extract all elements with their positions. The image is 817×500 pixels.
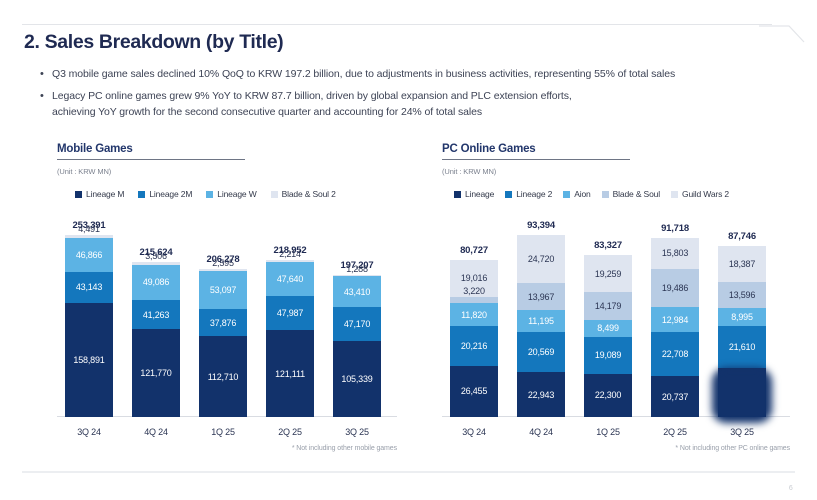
bar-segment-value: 20,569 (528, 347, 554, 357)
bar-segment-value: 47,640 (277, 274, 303, 284)
bar-segment[interactable]: 21,610 (718, 326, 766, 368)
bullet-text-line2: achieving YoY growth for the second cons… (52, 104, 572, 120)
bar-segment[interactable]: 47,170 (333, 307, 381, 341)
page-title: 2. Sales Breakdown (by Title) (24, 31, 283, 54)
bar-segment[interactable]: 22,708 (651, 332, 699, 376)
legend-item-lineage-2m[interactable]: Lineage 2M (138, 189, 192, 199)
bar-segment[interactable]: 11,820 (450, 303, 498, 326)
x-axis-label: 2Q 25 (278, 427, 302, 437)
bar-segment-value: 11,820 (461, 310, 487, 320)
bar-segment-value: 121,770 (140, 368, 171, 378)
bar-segment[interactable]: 46,866 (65, 238, 113, 272)
x-axis-label: 3Q 25 (730, 427, 754, 437)
bar-segment[interactable]: 13,967 (517, 283, 565, 310)
bar-group[interactable]: 218,9522,21447,64047,987121,111 (266, 226, 314, 417)
bar-segment[interactable]: 121,770 (132, 329, 180, 417)
bar-segment-value: 12,984 (662, 315, 688, 325)
legend-mobile: Lineage MLineage 2MLineage WBlade & Soul… (75, 189, 397, 199)
bar-segment[interactable]: 15,803 (651, 238, 699, 269)
bar-segment[interactable]: 20,569 (517, 332, 565, 372)
bar-segment-value: 8,995 (731, 312, 753, 322)
bar-segment[interactable]: 22,300 (584, 374, 632, 417)
x-axis-label: 3Q 24 (77, 427, 101, 437)
stacked-bar[interactable]: 1,28843,41047,170105,339 (333, 275, 381, 417)
x-axis-label: 4Q 24 (529, 427, 553, 437)
bullet-marker: • (40, 88, 52, 104)
bar-total-label: 218,952 (274, 245, 307, 256)
stacked-bar[interactable]: 18,38713,5968,99521,610 (718, 246, 766, 417)
stacked-bar[interactable]: 19,25914,1798,49919,08922,300 (584, 255, 632, 417)
bar-total-label: 80,727 (460, 245, 488, 256)
bar-segment[interactable]: 11,195 (517, 310, 565, 332)
bar-total-label: 83,327 (594, 240, 622, 251)
bar-segment-value: 41,263 (143, 310, 169, 320)
bar-segment[interactable]: 112,710 (199, 336, 247, 417)
bar-segment-value: 112,710 (208, 372, 238, 382)
legend-swatch-icon (271, 191, 278, 198)
x-axis-label: 1Q 25 (596, 427, 620, 437)
legend-item-lineage[interactable]: Lineage (454, 189, 494, 199)
bullet-text: Legacy PC online games grew 9% YoY to KR… (52, 90, 572, 102)
legend-swatch-icon (563, 191, 570, 198)
slide: 2. Sales Breakdown (by Title) • Q3 mobil… (0, 0, 817, 500)
bar-segment[interactable]: 53,097 (199, 271, 247, 309)
bar-segment-value: 46,866 (76, 250, 102, 260)
bar-group[interactable]: 253,3914,49146,86643,143158,891 (65, 201, 113, 417)
bar-segment[interactable]: 8,995 (718, 308, 766, 326)
footer-divider (22, 471, 795, 473)
bar-segment-value: 105,339 (341, 374, 372, 384)
bar-segment-value: 26,455 (461, 386, 487, 396)
bar-total-label: 87,746 (728, 231, 756, 242)
bar-total-label: 253,391 (73, 220, 106, 231)
chart-mobile: * Not including other mobile games 253,3… (57, 211, 397, 439)
bar-segment[interactable]: 18,387 (718, 246, 766, 282)
bar-segment-value: 53,097 (210, 285, 236, 295)
bar-segment[interactable]: 37,876 (199, 309, 247, 336)
chart-pc: * Not including other PC online games 80… (442, 211, 790, 439)
corner-decoration (759, 22, 805, 52)
bar-group[interactable]: 206,2782,59553,09737,876112,710 (199, 235, 247, 417)
bar-segment-value: 14,179 (595, 301, 621, 311)
bar-segment-value: 47,170 (344, 319, 370, 329)
bar-segment[interactable]: 47,640 (266, 262, 314, 296)
legend-label: Lineage W (217, 189, 256, 199)
legend-item-lineage-m[interactable]: Lineage M (75, 189, 124, 199)
bar-segment[interactable]: 43,143 (65, 272, 113, 303)
bar-segment[interactable]: 43,410 (333, 276, 381, 307)
legend-item-blade-soul[interactable]: Blade & Soul (602, 189, 660, 199)
stacked-bar[interactable]: 24,72013,96711,19520,56922,943 (517, 235, 565, 417)
bar-segment[interactable]: 19,259 (584, 255, 632, 292)
bar-group[interactable]: 87,74618,38713,5968,99521,610 (718, 212, 766, 417)
bar-segment[interactable]: 26,455 (450, 366, 498, 417)
legend-swatch-icon (454, 191, 461, 198)
x-axis-label: 3Q 25 (345, 427, 369, 437)
list-item: • Q3 mobile game sales declined 10% QoQ … (40, 66, 800, 82)
bar-segment-value: 43,143 (76, 282, 102, 292)
list-item: • Legacy PC online games grew 9% YoY to … (40, 88, 800, 120)
bar-segment[interactable]: 19,089 (584, 337, 632, 374)
bar-segment-value: 11,195 (528, 316, 554, 326)
bar-group[interactable]: 80,72719,0163,22011,82020,21626,455 (450, 226, 498, 417)
bar-group[interactable]: 91,71815,80319,48612,98422,70820,737 (651, 204, 699, 417)
panel-title: PC Online Games (442, 143, 790, 159)
bar-segment[interactable]: 20,216 (450, 326, 498, 365)
bar-segment-value: 37,876 (210, 318, 236, 328)
bar-segment-value: 43,410 (344, 287, 370, 297)
bar-group[interactable]: 83,32719,25914,1798,49919,08922,300 (584, 221, 632, 417)
panel-mobile-games: Mobile Games (Unit : KRW MN) Lineage MLi… (57, 143, 397, 439)
legend-label: Lineage M (86, 189, 124, 199)
stacked-bar[interactable]: 2,21447,64047,987121,111 (266, 260, 314, 417)
legend-item-blade-soul-2[interactable]: Blade & Soul 2 (271, 189, 336, 199)
legend-swatch-icon (206, 191, 213, 198)
x-axis-label: 1Q 25 (211, 427, 235, 437)
bar-total-label: 93,394 (527, 220, 555, 231)
bar-segment-value: 13,967 (528, 292, 554, 302)
bar-segment[interactable]: 121,111 (266, 330, 314, 417)
bar-segment-obscured (712, 368, 772, 423)
stacked-bar[interactable]: 3,50649,08641,263121,770 (132, 262, 180, 417)
bar-segment-value: 19,089 (595, 350, 621, 360)
stacked-bar[interactable]: 2,59553,09737,876112,710 (199, 269, 247, 417)
panel-title: Mobile Games (57, 143, 397, 159)
bar-segment-value: 121,111 (275, 369, 305, 379)
bar-segment-value: 22,943 (528, 390, 554, 400)
chart-footnote: * Not including other mobile games (292, 445, 397, 452)
legend-label: Lineage 2 (516, 189, 552, 199)
legend-label: Blade & Soul (613, 189, 660, 199)
bar-segment-value: 24,720 (528, 254, 554, 264)
bar-segment[interactable]: 41,263 (132, 300, 180, 330)
bar-segment-value: 19,016 (461, 273, 487, 283)
bar-segment[interactable]: 12,984 (651, 307, 699, 332)
bullet-marker: • (40, 66, 52, 82)
legend-swatch-icon (138, 191, 145, 198)
legend-item-lineage-w[interactable]: Lineage W (206, 189, 256, 199)
bar-segment[interactable]: 49,086 (132, 265, 180, 300)
stacked-bar[interactable]: 15,80319,48612,98422,70820,737 (651, 238, 699, 417)
bar-segment[interactable]: 47,987 (266, 296, 314, 330)
bar-segment-value: 49,086 (143, 277, 169, 287)
bar-segment-value: 15,803 (662, 248, 688, 258)
bar-segment[interactable]: 13,596 (718, 282, 766, 308)
stacked-bar[interactable]: 4,49146,86643,143158,891 (65, 235, 113, 417)
bar-segment-value: 22,300 (595, 390, 621, 400)
legend-label: Guild Wars 2 (682, 189, 729, 199)
bar-group[interactable]: 197,2071,28843,41047,170105,339 (333, 241, 381, 417)
legend-swatch-icon (602, 191, 609, 198)
legend-label: Lineage 2M (149, 189, 192, 199)
bar-segment-value: 19,259 (595, 269, 621, 279)
legend-item-aion[interactable]: Aion (563, 189, 590, 199)
bar-segment[interactable]: 158,891 (65, 303, 113, 417)
bar-segment-value: 18,387 (729, 259, 755, 269)
unit-label: (Unit : KRW MN) (57, 167, 397, 176)
x-axis-label: 4Q 24 (144, 427, 168, 437)
bar-segment[interactable]: 20,737 (651, 376, 699, 416)
chart-footnote: * Not including other PC online games (675, 445, 790, 452)
bar-segment[interactable]: 22,943 (517, 372, 565, 417)
legend-pc: LineageLineage 2AionBlade & SoulGuild Wa… (454, 189, 790, 199)
legend-label: Lineage (465, 189, 494, 199)
legend-swatch-icon (75, 191, 82, 198)
bar-group[interactable]: 93,39424,72013,96711,19520,56922,943 (517, 201, 565, 417)
legend-label: Blade & Soul 2 (282, 189, 336, 199)
panel-divider (57, 159, 245, 160)
panel-pc-online-games: PC Online Games (Unit : KRW MN) LineageL… (442, 143, 790, 439)
bar-segment-value: 22,708 (662, 349, 688, 359)
bar-segment[interactable]: 24,720 (517, 235, 565, 283)
bar-segment[interactable]: 8,499 (584, 320, 632, 337)
stacked-bar[interactable]: 19,0163,22011,82020,21626,455 (450, 260, 498, 417)
bar-segment[interactable]: 14,179 (584, 292, 632, 320)
bar-segment-value: 19,486 (662, 283, 688, 293)
bar-total-label: 206,278 (207, 254, 240, 265)
bullet-text: Q3 mobile game sales declined 10% QoQ to… (52, 68, 675, 80)
bar-segment[interactable]: 19,016 (450, 260, 498, 297)
bar-segment-value: 13,596 (729, 290, 755, 300)
bar-segment-value: 20,737 (662, 392, 688, 402)
bar-total-label: 215,624 (140, 247, 173, 258)
panel-divider (442, 159, 630, 160)
bar-total-label: 197,207 (341, 260, 374, 271)
x-axis-label: 3Q 24 (462, 427, 486, 437)
legend-item-guild-wars-2[interactable]: Guild Wars 2 (671, 189, 729, 199)
legend-label: Aion (574, 189, 590, 199)
bar-segment[interactable]: 19,486 (651, 269, 699, 307)
bar-segment-value: 47,987 (277, 308, 303, 318)
top-divider (22, 24, 772, 25)
bar-total-label: 91,718 (661, 223, 689, 234)
unit-label: (Unit : KRW MN) (442, 167, 790, 176)
bar-segment-value: 21,610 (729, 342, 755, 352)
x-axis-label: 2Q 25 (663, 427, 687, 437)
legend-swatch-icon (505, 191, 512, 198)
bar-segment-value: 158,891 (73, 355, 104, 365)
bar-group[interactable]: 215,6243,50649,08641,263121,770 (132, 228, 180, 417)
page-number: 6 (789, 485, 793, 492)
bar-segment-value: 20,216 (461, 341, 487, 351)
bar-segment[interactable]: 105,339 (333, 341, 381, 417)
legend-swatch-icon (671, 191, 678, 198)
bar-segment-value: 8,499 (597, 323, 619, 333)
bullet-list: • Q3 mobile game sales declined 10% QoQ … (40, 66, 800, 126)
legend-item-lineage-2[interactable]: Lineage 2 (505, 189, 552, 199)
